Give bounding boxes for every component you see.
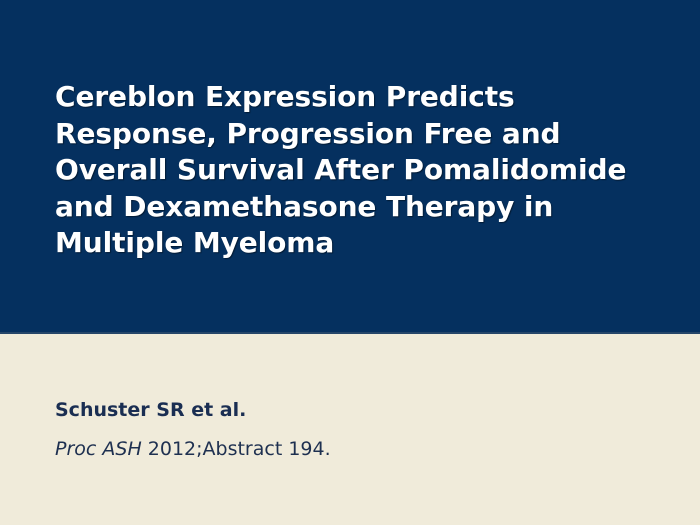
presentation-slide: Cereblon Expression Predicts Response, P…: [0, 0, 700, 525]
title-line-2: Response, Progression Free and: [55, 116, 683, 153]
attribution-area: Schuster SR et al. Proc ASH 2012;Abstrac…: [0, 334, 700, 525]
citation-details: 2012;Abstract 194.: [142, 438, 331, 460]
attribution-block: Schuster SR et al. Proc ASH 2012;Abstrac…: [55, 397, 675, 462]
title-line-4: and Dexamethasone Therapy in: [55, 189, 683, 226]
title-line-3: Overall Survival After Pomalidomide: [55, 152, 683, 189]
author-line: Schuster SR et al.: [55, 397, 675, 423]
title-banner: Cereblon Expression Predicts Response, P…: [0, 0, 700, 334]
title-line-1: Cereblon Expression Predicts: [55, 79, 683, 116]
title-line-5: Multiple Myeloma: [55, 225, 683, 262]
slide-title: Cereblon Expression Predicts Response, P…: [55, 79, 683, 262]
citation-line: Proc ASH 2012;Abstract 194.: [55, 436, 675, 462]
citation-journal-name: Proc ASH: [55, 438, 142, 460]
